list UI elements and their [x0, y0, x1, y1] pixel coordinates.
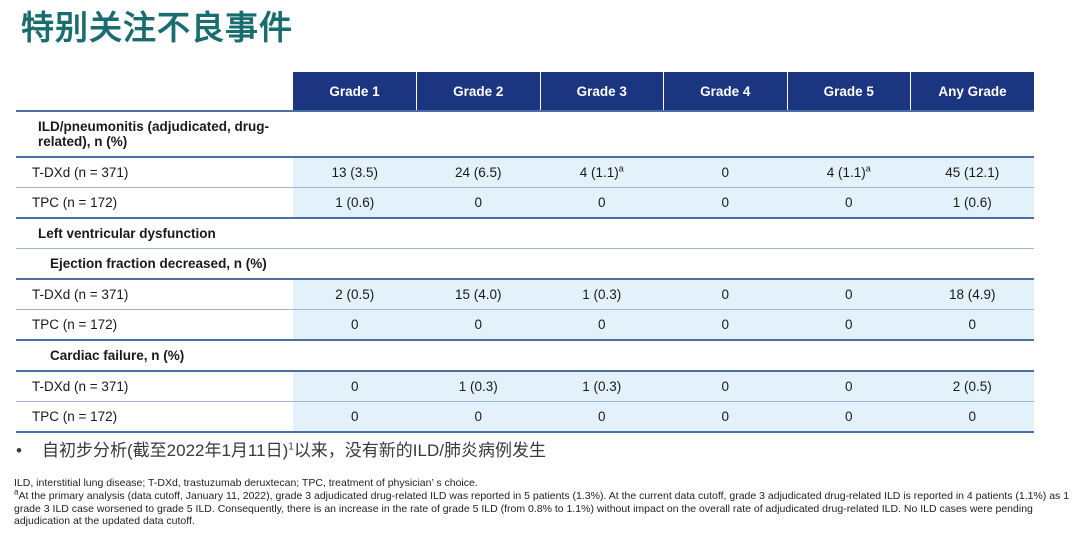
- row-label: TPC (n = 172): [16, 402, 293, 433]
- section-filler: [911, 340, 1035, 371]
- section-filler: [293, 111, 417, 157]
- cell-grade-2: 0: [417, 188, 541, 219]
- cell-value: 4 (1.1): [580, 165, 619, 180]
- cell-grade-1: 13 (3.5): [293, 157, 417, 188]
- adverse-events-table-container: Grade 1 Grade 2 Grade 3 Grade 4 Grade 5 …: [16, 72, 1034, 433]
- section-filler: [664, 218, 788, 249]
- cell-grade-3: 0: [540, 188, 664, 219]
- page-title: 特别关注不良事件: [21, 8, 293, 48]
- bullet-text-after: 以来，没有新的ILD/肺炎病例发生: [294, 441, 546, 460]
- cell-any-grade: 0: [911, 402, 1035, 433]
- section-filler: [664, 111, 788, 157]
- section-filler: [911, 111, 1035, 157]
- cell-grade-3: 1 (0.3): [540, 371, 664, 402]
- adverse-events-table: Grade 1 Grade 2 Grade 3 Grade 4 Grade 5 …: [16, 72, 1034, 433]
- cell-any-grade: 0: [911, 310, 1035, 341]
- table-row: TPC (n = 172) 0 0 0 0 0 0: [16, 402, 1034, 433]
- cell-grade-1: 1 (0.6): [293, 188, 417, 219]
- column-header-grade-5: Grade 5: [787, 72, 911, 111]
- cell-grade-1: 0: [293, 310, 417, 341]
- footnote-marker: a: [619, 164, 624, 174]
- cell-grade-5: 0: [787, 279, 911, 310]
- section-filler: [417, 249, 541, 280]
- cell-grade-5: 0: [787, 188, 911, 219]
- cell-grade-4: 0: [664, 402, 788, 433]
- cell-grade-4: 0: [664, 279, 788, 310]
- section-filler: [540, 218, 664, 249]
- table-header: Grade 1 Grade 2 Grade 3 Grade 4 Grade 5 …: [16, 72, 1034, 111]
- table-row: T-DXd (n = 371) 2 (0.5) 15 (4.0) 1 (0.3)…: [16, 279, 1034, 310]
- cell-grade-4: 0: [664, 157, 788, 188]
- table-row: TPC (n = 172) 0 0 0 0 0 0: [16, 310, 1034, 341]
- bullet-text-before: 自初步分析(截至2022年1月11日): [42, 441, 288, 460]
- table-row: T-DXd (n = 371) 0 1 (0.3) 1 (0.3) 0 0 2 …: [16, 371, 1034, 402]
- footnotes: ILD, interstitial lung disease; T-DXd, t…: [14, 477, 1070, 529]
- section-filler: [293, 218, 417, 249]
- table-header-corner: [16, 72, 293, 111]
- section-filler: [540, 340, 664, 371]
- section-filler: [787, 249, 911, 280]
- cell-any-grade: 2 (0.5): [911, 371, 1035, 402]
- section-filler: [293, 340, 417, 371]
- cell-grade-4: 0: [664, 371, 788, 402]
- cell-grade-4: 0: [664, 310, 788, 341]
- column-header-any-grade: Any Grade: [911, 72, 1035, 111]
- section-title: Cardiac failure, n (%): [16, 340, 293, 371]
- section-title: ILD/pneumonitis (adjudicated, drug-relat…: [16, 111, 293, 157]
- cell-grade-2: 15 (4.0): [417, 279, 541, 310]
- cell-grade-3: 4 (1.1)a: [540, 157, 664, 188]
- cell-grade-1: 2 (0.5): [293, 279, 417, 310]
- footnote-note-text: At the primary analysis (data cutoff, Ja…: [14, 490, 1069, 527]
- section-filler: [787, 111, 911, 157]
- section-header-row: ILD/pneumonitis (adjudicated, drug-relat…: [16, 111, 1034, 157]
- cell-any-grade: 18 (4.9): [911, 279, 1035, 310]
- cell-grade-2: 0: [417, 402, 541, 433]
- section-filler: [417, 218, 541, 249]
- bullet-point: • 自初步分析(截至2022年1月11日)1以来，没有新的ILD/肺炎病例发生: [16, 440, 1056, 462]
- bullet-text: 自初步分析(截至2022年1月11日)1以来，没有新的ILD/肺炎病例发生: [42, 440, 546, 462]
- cell-grade-3: 0: [540, 310, 664, 341]
- cell-value: 4 (1.1): [827, 165, 866, 180]
- cell-grade-3: 1 (0.3): [540, 279, 664, 310]
- section-filler: [417, 340, 541, 371]
- row-label: T-DXd (n = 371): [16, 371, 293, 402]
- section-header-row: Cardiac failure, n (%): [16, 340, 1034, 371]
- table-header-row: Grade 1 Grade 2 Grade 3 Grade 4 Grade 5 …: [16, 72, 1034, 111]
- cell-grade-2: 0: [417, 310, 541, 341]
- section-filler: [417, 111, 541, 157]
- section-filler: [293, 249, 417, 280]
- row-label: T-DXd (n = 371): [16, 157, 293, 188]
- cell-grade-4: 0: [664, 188, 788, 219]
- cell-grade-2: 24 (6.5): [417, 157, 541, 188]
- table-row: T-DXd (n = 371) 13 (3.5) 24 (6.5) 4 (1.1…: [16, 157, 1034, 188]
- footnote-abbreviations: ILD, interstitial lung disease; T-DXd, t…: [14, 477, 1070, 489]
- footnote-note: aAt the primary analysis (data cutoff, J…: [14, 490, 1070, 527]
- section-title: Ejection fraction decreased, n (%): [16, 249, 293, 280]
- section-filler: [664, 249, 788, 280]
- cell-any-grade: 45 (12.1): [911, 157, 1035, 188]
- cell-grade-5: 0: [787, 371, 911, 402]
- cell-grade-3: 0: [540, 402, 664, 433]
- section-filler: [911, 249, 1035, 280]
- section-filler: [911, 218, 1035, 249]
- section-filler: [787, 340, 911, 371]
- row-label: T-DXd (n = 371): [16, 279, 293, 310]
- section-filler: [540, 249, 664, 280]
- cell-any-grade: 1 (0.6): [911, 188, 1035, 219]
- section-title: Left ventricular dysfunction: [16, 218, 293, 249]
- table-body: ILD/pneumonitis (adjudicated, drug-relat…: [16, 111, 1034, 432]
- column-header-grade-2: Grade 2: [417, 72, 541, 111]
- cell-grade-5: 0: [787, 310, 911, 341]
- section-filler: [540, 111, 664, 157]
- section-filler: [664, 340, 788, 371]
- table-row: TPC (n = 172) 1 (0.6) 0 0 0 0 1 (0.6): [16, 188, 1034, 219]
- cell-grade-1: 0: [293, 371, 417, 402]
- section-header-row: Ejection fraction decreased, n (%): [16, 249, 1034, 280]
- cell-grade-5: 4 (1.1)a: [787, 157, 911, 188]
- bullet-marker: •: [16, 440, 42, 462]
- row-label: TPC (n = 172): [16, 310, 293, 341]
- section-header-row: Left ventricular dysfunction: [16, 218, 1034, 249]
- row-label: TPC (n = 172): [16, 188, 293, 219]
- cell-grade-1: 0: [293, 402, 417, 433]
- column-header-grade-1: Grade 1: [293, 72, 417, 111]
- cell-grade-5: 0: [787, 402, 911, 433]
- section-filler: [787, 218, 911, 249]
- footnote-marker: a: [866, 164, 871, 174]
- cell-grade-2: 1 (0.3): [417, 371, 541, 402]
- column-header-grade-3: Grade 3: [540, 72, 664, 111]
- column-header-grade-4: Grade 4: [664, 72, 788, 111]
